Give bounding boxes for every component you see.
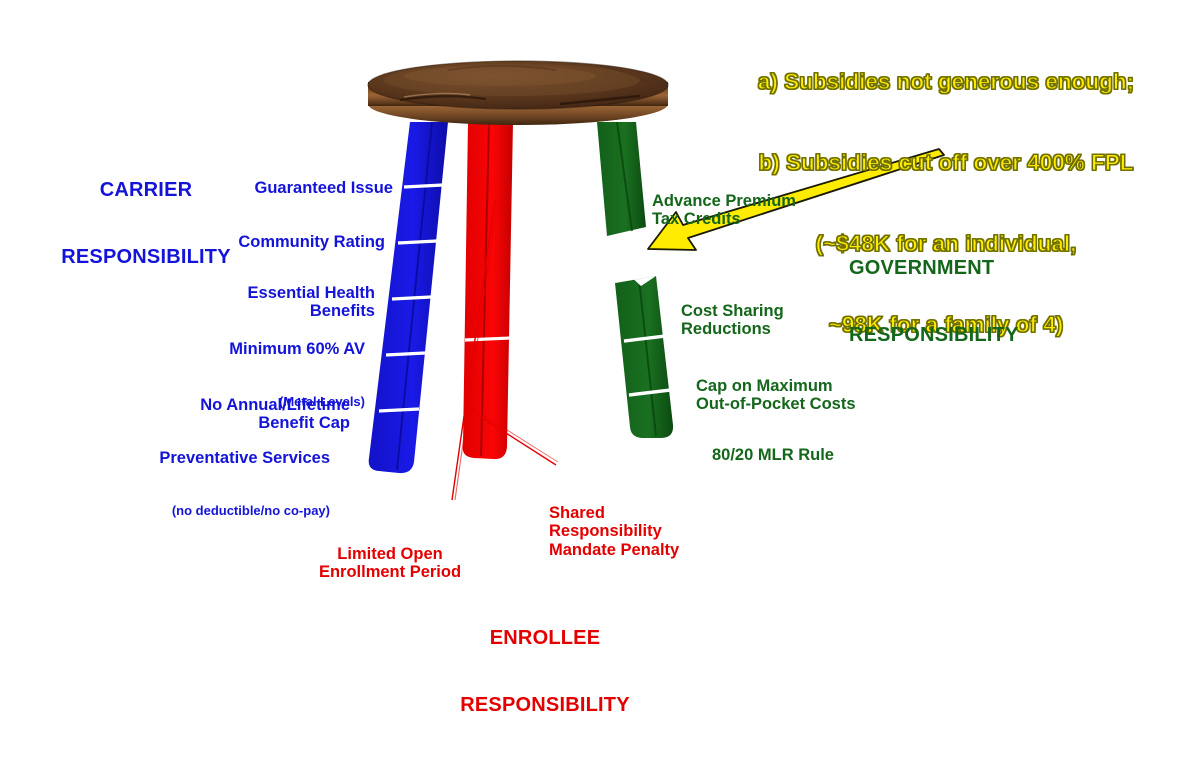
- government-item-advance-premium-tax-credits: Advance Premium Tax Credits: [652, 155, 892, 266]
- callout-line-1: a) Subsidies not generous enough;: [700, 68, 1192, 95]
- government-leg-bottom: [615, 274, 673, 438]
- enrollee-heading-line-2: RESPONSIBILITY: [400, 694, 690, 716]
- government-item-label: Cost Sharing Reductions: [681, 302, 921, 339]
- enrollee-leg: [452, 122, 558, 500]
- government-item-label: Advance Premium Tax Credits: [652, 192, 892, 229]
- enrollee-item-label: Limited Open Enrollment Period: [290, 545, 490, 582]
- enrollee-item-label: Shared Responsibility Mandate Penalty: [549, 504, 779, 559]
- carrier-item-label: Minimum 60% AV: [80, 340, 365, 358]
- enrollee-heading-line-1: ENROLLEE: [400, 627, 690, 649]
- enrollee-responsibility-heading: ENROLLEE RESPONSIBILITY: [400, 582, 690, 761]
- government-item-label: 80/20 MLR Rule: [712, 446, 952, 464]
- diagram-canvas: a) Subsidies not generous enough; b) Sub…: [0, 0, 1200, 656]
- carrier-item-preventative-services: Preventative Services (no deductible/no …: [50, 412, 330, 556]
- carrier-item-label: Guaranteed Issue: [100, 179, 393, 197]
- carrier-item-label: Preventative Services: [50, 449, 330, 467]
- carrier-item-sublabel: (no deductible/no co-pay): [50, 504, 330, 519]
- government-leg-top: [597, 122, 646, 236]
- stool-seat: [368, 61, 668, 125]
- enrollee-item-shared-responsibility-penalty: Shared Responsibility Mandate Penalty: [549, 467, 779, 596]
